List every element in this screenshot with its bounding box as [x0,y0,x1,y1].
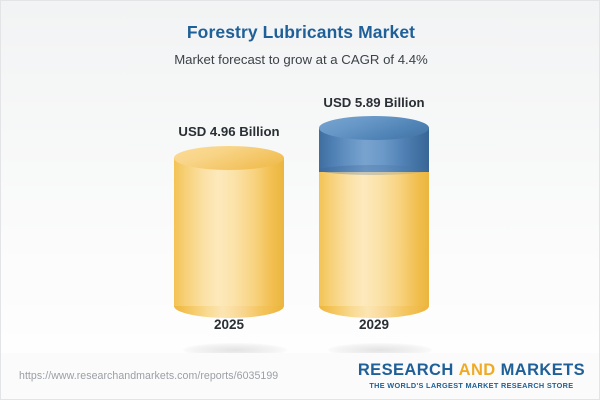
logo-word-and: AND [459,361,496,379]
bar-group-2025[interactable] [149,1,309,353]
chart-plot-area: USD 4.96 Billion USD 5.89 Billion 2025 [1,1,600,353]
bar-top-ellipse-2025 [174,146,284,170]
research-and-markets-logo[interactable]: RESEARCHANDMARKETS THE WORLD'S LARGEST M… [358,361,585,390]
logo-word-markets: MARKETS [501,361,585,379]
footer: https://www.researchandmarkets.com/repor… [1,353,600,400]
bar-cylinder-2029[interactable] [319,116,429,306]
bar-top-ellipse-2029 [319,116,429,140]
logo-tagline: THE WORLD'S LARGEST MARKET RESEARCH STOR… [358,381,585,390]
bar-segment-base-2025 [174,158,284,306]
category-label-2029: 2029 [294,317,454,332]
logo-word-research: RESEARCH [358,361,454,379]
bar-segment-seam-2029 [319,165,429,175]
bar-group-2029[interactable] [294,1,454,353]
category-label-2025: 2025 [149,317,309,332]
logo-wordmark: RESEARCHANDMARKETS [358,361,585,380]
bar-segment-base-2029 [319,170,429,306]
bar-cylinder-2025[interactable] [174,146,284,306]
source-url[interactable]: https://www.researchandmarkets.com/repor… [19,370,278,382]
market-forecast-infographic-card: Forestry Lubricants Market Market foreca… [0,0,600,400]
